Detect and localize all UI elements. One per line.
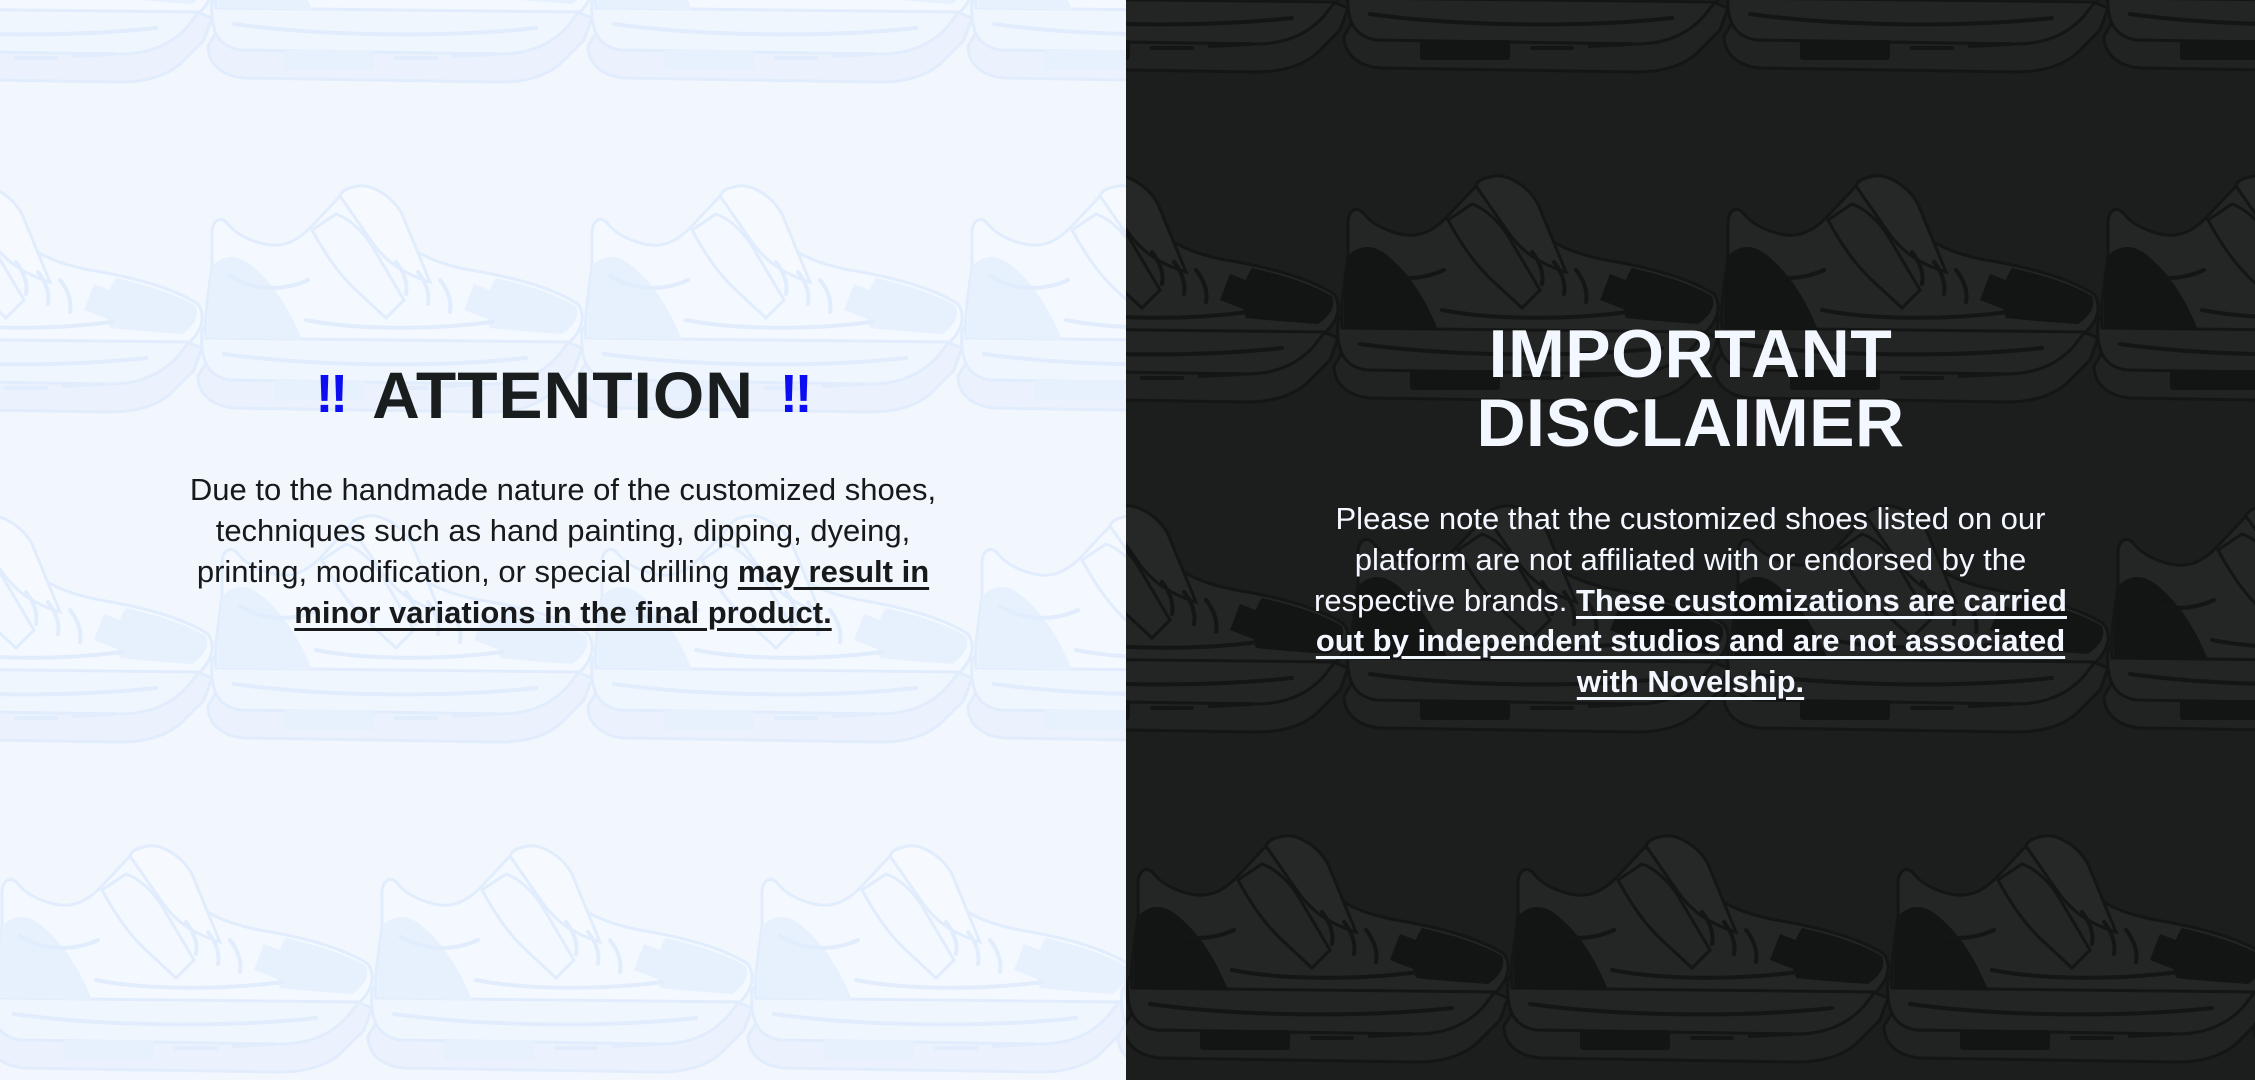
attention-heading-text: ATTENTION	[372, 358, 754, 432]
double-exclamation-icon-right: ‼	[780, 367, 811, 421]
disclaimer-panel: IMPORTANTDISCLAIMER Please note that the…	[1126, 0, 2255, 1080]
disclaimer-content: IMPORTANTDISCLAIMER Please note that the…	[1126, 0, 2255, 703]
attention-heading: ‼ATTENTION‼	[0, 362, 1126, 428]
disclaimer-heading-line1: IMPORTANT	[1489, 316, 1893, 392]
attention-body: Due to the handmade nature of the custom…	[168, 470, 958, 634]
attention-panel: ‼ATTENTION‼ Due to the handmade nature o…	[0, 0, 1126, 1080]
disclaimer-heading: IMPORTANTDISCLAIMER	[1126, 320, 2255, 459]
promo-banner: ‼ATTENTION‼ Due to the handmade nature o…	[0, 0, 2255, 1080]
double-exclamation-icon-left: ‼	[316, 367, 347, 421]
disclaimer-heading-line2: DISCLAIMER	[1476, 385, 1904, 461]
attention-content: ‼ATTENTION‼ Due to the handmade nature o…	[0, 0, 1126, 634]
disclaimer-body: Please note that the customized shoes li…	[1291, 499, 2091, 704]
